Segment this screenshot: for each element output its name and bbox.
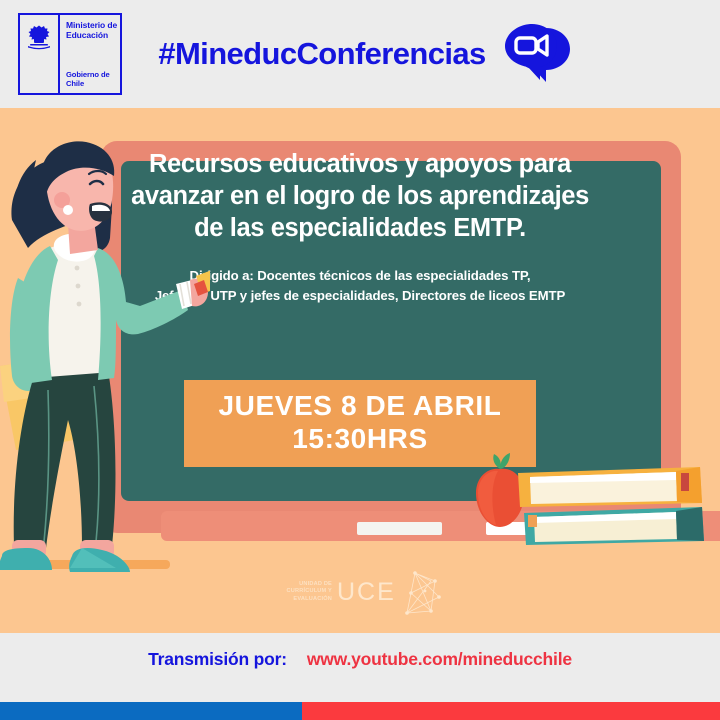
uce-subtitle-line: CURRÍCULUM Y <box>286 588 332 595</box>
apple-icon <box>476 453 524 527</box>
broadcast-label: Transmisión por: <box>148 649 287 670</box>
flag-blue-band <box>0 702 302 720</box>
event-date: JUEVES 8 DE ABRIL <box>184 389 536 422</box>
uce-acronym: UCE <box>337 580 396 605</box>
youtube-url-link[interactable]: www.youtube.com/mineducchile <box>307 649 572 670</box>
poster-scene: Recursos educativos y apoyos para avanza… <box>0 108 720 633</box>
conference-poster: Ministerio deEducación Gobierno de Chile… <box>0 0 720 720</box>
footer-bar: Transmisión por: www.youtube.com/mineduc… <box>0 633 720 720</box>
stacked-books-icon <box>518 467 704 545</box>
broadcast-info: Transmisión por: www.youtube.com/mineduc… <box>0 649 720 670</box>
header-bar: Ministerio deEducación Gobierno de Chile… <box>0 0 720 108</box>
video-camera-chat-bubble-icon <box>502 22 576 86</box>
apple-and-books-illustration <box>462 441 712 571</box>
uce-subtitle: UNIDAD DE CURRÍCULUM Y EVALUACIÓN <box>286 581 332 603</box>
teacher-illustration <box>0 128 210 598</box>
uce-subtitle-line: EVALUACIÓN <box>286 596 332 603</box>
hashtag-block: #MineducConferencias <box>0 0 720 108</box>
chalk-piece <box>357 522 442 535</box>
flag-color-strip <box>0 702 720 720</box>
hashtag-title: #MineducConferencias <box>158 36 485 72</box>
flag-red-band <box>302 702 720 720</box>
uce-logo: UNIDAD DE CURRÍCULUM Y EVALUACIÓN UCE <box>286 566 446 618</box>
network-nodes-icon <box>401 567 445 617</box>
